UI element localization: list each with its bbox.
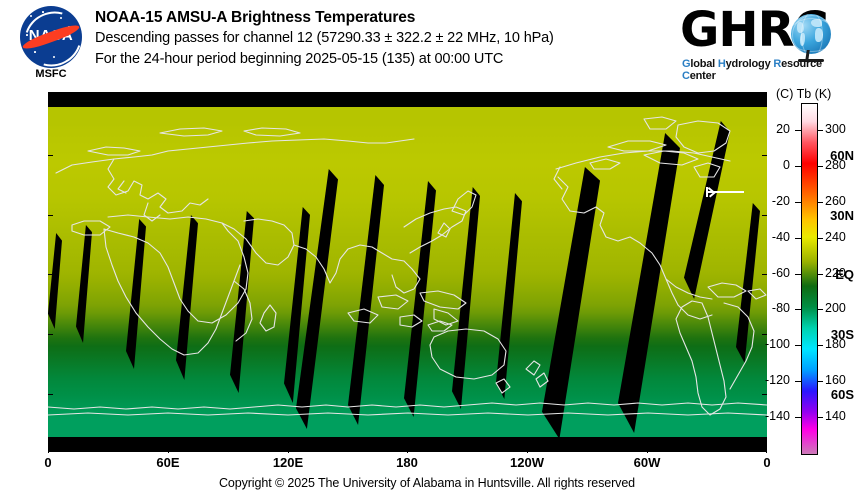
x-tick: [407, 92, 408, 97]
colorbar-tick-kelvin: [817, 274, 823, 275]
y-tick: [48, 215, 53, 216]
x-tick: [168, 448, 169, 453]
colorbar-tick-celsius: [795, 274, 801, 275]
colorbar-tick-celsius: [795, 130, 801, 131]
header: NASA MSFC NOAA-15 AMSU-A Brightness Temp…: [0, 0, 854, 88]
colorbar-tick-celsius: [795, 202, 801, 203]
x-tick: [527, 92, 528, 97]
map-plot[interactable]: [48, 92, 767, 452]
brightness-temperature-map[interactable]: [48, 107, 767, 437]
colorbar-label-celsius: -60: [740, 266, 790, 280]
x-tick: [288, 448, 289, 453]
colorbar-label-kelvin: 220: [825, 266, 846, 280]
colorbar-tick-kelvin: [817, 238, 823, 239]
title-block: NOAA-15 AMSU-A Brightness Temperatures D…: [95, 8, 675, 70]
y-tick: [762, 334, 767, 335]
x-tick-label: 180: [377, 455, 437, 470]
colorbar-tick-kelvin: [817, 309, 823, 310]
colorbar[interactable]: [801, 103, 818, 455]
y-tick: [762, 215, 767, 216]
y-tick: [762, 155, 767, 156]
page-subtitle: Descending passes for channel 12 (57290.…: [95, 28, 675, 49]
colorbar-tick-celsius: [795, 345, 801, 346]
y-tick: [48, 155, 53, 156]
x-tick-label: 0: [737, 455, 797, 470]
x-tick: [288, 92, 289, 97]
ghrc-tagline-part: lobal: [690, 58, 718, 70]
x-tick: [407, 448, 408, 453]
colorbar-label-celsius: -80: [740, 301, 790, 315]
colorbar-tick-kelvin: [817, 166, 823, 167]
colorbar-tick-celsius: [795, 166, 801, 167]
ghrc-tagline-part: R: [773, 58, 781, 70]
colorbar-tick-kelvin: [817, 381, 823, 382]
x-tick: [168, 92, 169, 97]
ghrc-tagline-part: H: [718, 58, 726, 70]
colorbar-header: (C) Tb (K): [776, 87, 831, 101]
colorbar-label-kelvin: 260: [825, 194, 846, 208]
colorbar-tick-celsius: [795, 417, 801, 418]
x-tick: [527, 448, 528, 453]
coastlines: [48, 107, 767, 437]
colorbar-tick-celsius: [795, 309, 801, 310]
ghrc-tagline-part: ydrology: [726, 58, 774, 70]
nasa-logo: NASA MSFC: [14, 6, 86, 78]
x-tick-label: 60E: [138, 455, 198, 470]
y-tick: [762, 394, 767, 395]
colorbar-label-kelvin: 200: [825, 301, 846, 315]
colorbar-gradient: [802, 104, 817, 454]
x-tick-label: 120W: [497, 455, 557, 470]
colorbar-tick-kelvin: [817, 130, 823, 131]
colorbar-tick-celsius: [795, 238, 801, 239]
nasa-meatball-icon: NASA: [20, 6, 82, 68]
colorbar-tick-celsius: [795, 381, 801, 382]
colorbar-tick-kelvin: [817, 202, 823, 203]
colorbar-label-kelvin: 180: [825, 337, 846, 351]
colorbar-label-celsius: 20: [740, 122, 790, 136]
colorbar-label-celsius: -20: [740, 194, 790, 208]
colorbar-tick-kelvin: [817, 417, 823, 418]
colorbar-label-celsius: -100: [740, 337, 790, 351]
x-tick-label: 120E: [258, 455, 318, 470]
y-tick: [48, 334, 53, 335]
x-tick: [647, 92, 648, 97]
colorbar-label-kelvin: 140: [825, 409, 846, 423]
x-tick: [48, 92, 49, 97]
ghrc-tagline-part: esource: [781, 58, 822, 70]
y-tick: [48, 274, 53, 275]
globe-icon: [791, 14, 831, 54]
ghrc-tagline-part: C: [682, 70, 690, 82]
ghrc-tagline-part: enter: [690, 70, 716, 82]
colorbar-label-kelvin: 240: [825, 230, 846, 244]
colorbar-label-celsius: -40: [740, 230, 790, 244]
colorbar-label-celsius: 0: [740, 158, 790, 172]
x-tick: [766, 448, 767, 453]
x-tick-label: 60W: [617, 455, 677, 470]
x-tick: [766, 92, 767, 97]
colorbar-label-celsius: -120: [740, 373, 790, 387]
colorbar-label-kelvin: 160: [825, 373, 846, 387]
ghrc-tagline: Global Hydrology Resource Center: [682, 58, 845, 82]
colorbar-label-celsius: -140: [740, 409, 790, 423]
page-period: For the 24-hour period beginning 2025-05…: [95, 49, 675, 70]
page-title: NOAA-15 AMSU-A Brightness Temperatures: [95, 8, 675, 28]
colorbar-tick-kelvin: [817, 345, 823, 346]
copyright-notice: Copyright © 2025 The University of Alaba…: [0, 476, 854, 490]
x-tick: [647, 448, 648, 453]
x-tick: [48, 448, 49, 453]
colorbar-label-kelvin: 300: [825, 122, 846, 136]
y-tick: [48, 394, 53, 395]
nasa-center-label: MSFC: [14, 68, 88, 80]
ghrc-logo: GHRC Global Hydrology Resource Center: [680, 6, 845, 76]
colorbar-label-kelvin: 280: [825, 158, 846, 172]
x-tick-label: 0: [18, 455, 78, 470]
